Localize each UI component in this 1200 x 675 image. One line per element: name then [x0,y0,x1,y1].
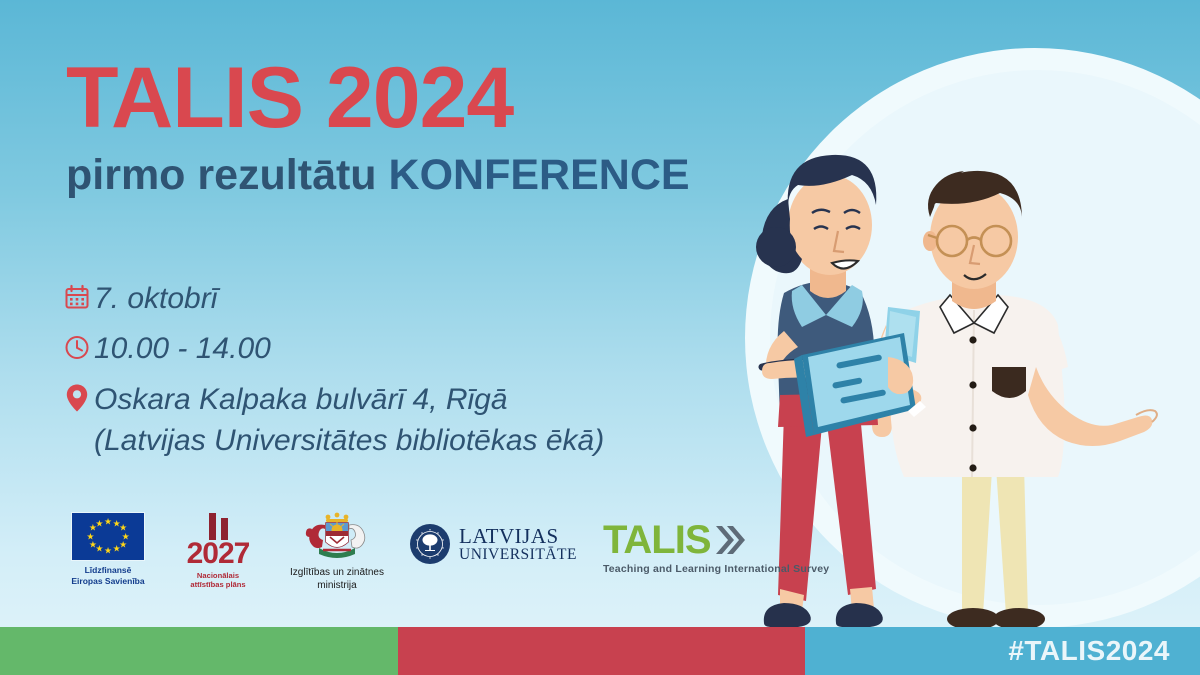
calendar-icon [60,280,94,314]
bar-segment-green [0,627,398,675]
bar-segment-red [398,627,805,675]
eu-caption-line2: Eiropas Savienība [62,576,154,587]
detail-row-time: 10.00 - 14.00 [60,328,604,369]
nap-caption: Nacionālais attīstības plāns [190,571,245,590]
location-pin-icon [60,381,94,415]
bottom-color-bar: #TALIS2024 [0,627,1200,675]
sponsor-logo-strip: ★ ★ ★ ★ ★ ★ ★ ★ ★ ★ ★ ★ Līdzfinansē Eiro… [62,512,829,592]
ministry-caption-line1: Izglītības un zinātnes [290,567,384,580]
detail-date-text: 7. oktobrī [94,278,217,319]
talis-logo-block: TALIS Teaching and Learning Internationa… [603,520,829,575]
headline-group: TALIS 2024 pirmo rezultātu KONFERENCE [66,55,690,198]
detail-location-text: Oskara Kalpaka bulvārī 4, Rīgā [94,379,604,420]
poster-canvas: TALIS 2024 pirmo rezultātu KONFERENCE 7.… [0,0,1200,675]
eu-logo-caption: Līdzfinansē Eiropas Savienība [62,565,154,586]
detail-time-text: 10.00 - 14.00 [94,328,271,369]
ministry-logo-block: Izglītības un zinātnes ministrija [278,512,396,592]
european-union-flag-icon: ★ ★ ★ ★ ★ ★ ★ ★ ★ ★ ★ ★ [71,512,145,561]
event-details-list: 7. oktobrī 10.00 - 14.00 Oskara Kalpaka … [60,278,604,471]
nap-year-label: 2027 [187,538,250,570]
talis-tagline: Teaching and Learning International Surv… [603,563,829,575]
bar-segment-blue: #TALIS2024 [805,627,1200,675]
nap-logo-block: 2027 Nacionālais attīstības plāns [178,512,258,589]
eu-logo-block: ★ ★ ★ ★ ★ ★ ★ ★ ★ ★ ★ ★ Līdzfinansē Eiro… [62,512,154,586]
nap-caption-line1: Nacionālais [190,571,245,580]
detail-venue-text: (Latvijas Universitātes bibliotēkas ēkā) [94,420,604,461]
nap-caption-line2: attīstības plāns [190,580,245,589]
subtitle-konference: KONFERENCE [389,151,690,199]
lu-line2: UNIVERSITĀTE [459,547,577,563]
lu-wordmark: LATVIJAS UNIVERSITĀTE [459,526,577,563]
hashtag-label: #TALIS2024 [1008,635,1170,667]
page-title: TALIS 2024 [66,55,690,141]
page-subtitle: pirmo rezultātu KONFERENCE [66,153,690,198]
latvia-coat-of-arms-icon [299,512,375,564]
lu-seal-icon [410,524,450,564]
eu-caption-line1: Līdzfinansē [62,565,154,576]
university-logo-block: LATVIJAS UNIVERSITĀTE [410,524,577,564]
lu-line1: LATVIJAS [459,526,577,547]
double-chevron-icon [713,523,745,557]
subtitle-lead: pirmo rezultātu [66,151,389,199]
detail-row-date: 7. oktobrī [60,278,604,319]
nap-bars-icon [209,512,228,540]
ministry-caption: Izglītības un zinātnes ministrija [290,567,384,592]
talis-wordmark-row: TALIS [603,520,829,560]
clock-icon [60,330,94,364]
detail-row-location: Oskara Kalpaka bulvārī 4, Rīgā (Latvijas… [60,379,604,462]
talis-wordmark: TALIS [603,520,711,560]
ministry-caption-line2: ministrija [290,580,384,593]
